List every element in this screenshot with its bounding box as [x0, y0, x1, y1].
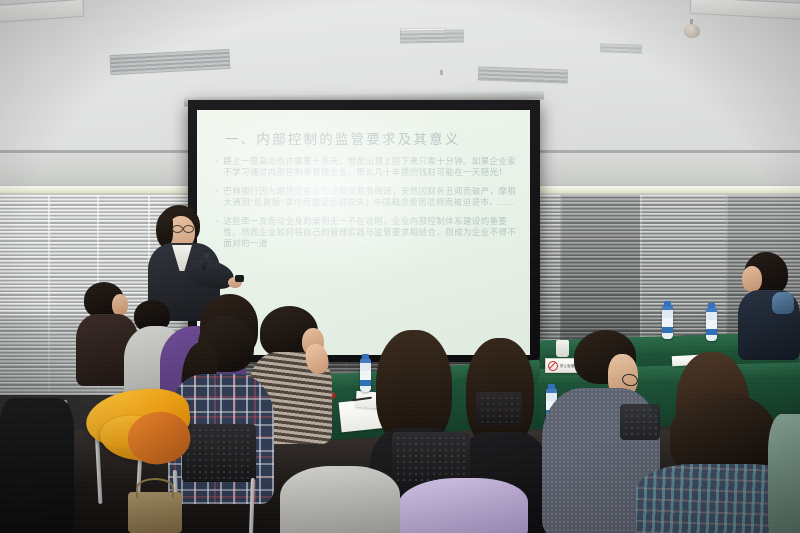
chair-perforation: [395, 435, 467, 481]
ceiling-sprinkler-icon: [684, 24, 700, 38]
paper-cup: [556, 340, 569, 357]
bullet-marker-icon: •: [215, 156, 218, 179]
grey-chair-foreground: [280, 466, 400, 533]
sprinkler-stem: [440, 70, 443, 75]
bullet-marker-icon: •: [215, 186, 218, 209]
slide-body: • 路上一座高山也许需要十多天，但是山顶上挖下来只需十分钟。如果企业家不学习通过…: [215, 156, 520, 257]
handbag: [128, 492, 182, 533]
chair-back: [620, 404, 660, 440]
recessed-light-panel: [0, 0, 85, 23]
recessed-light-panel: [690, 0, 800, 20]
collar: [772, 292, 794, 314]
chair-perforation: [623, 407, 657, 437]
water-bottle: [360, 358, 371, 392]
slide-bullet: • 这些牵一发而动全身的案例无一不在说明，企业内部控制体系建设的重要性。然而企业…: [215, 216, 520, 250]
slide-title: 一、内部控制的监管要求及其意义: [225, 128, 515, 148]
chair-perforation: [479, 395, 519, 423]
torso: [768, 414, 800, 533]
seminar-room-photo: 一、内部控制的监管要求及其意义 • 路上一座高山也许需要十多天，但是山顶上挖下来…: [0, 0, 800, 533]
presenter-hair-side: [156, 213, 173, 247]
lavender-coat-foreground: [398, 478, 528, 533]
glasses-icon: [172, 225, 183, 233]
head: [112, 294, 128, 316]
air-vent: [400, 29, 464, 43]
chair-back: [392, 432, 470, 484]
water-bottle: [662, 305, 673, 339]
torso: [0, 398, 74, 533]
air-vent: [478, 66, 568, 83]
chair-back: [182, 424, 256, 482]
handbag-strap: [136, 478, 174, 498]
no-smoking-icon: [548, 361, 558, 371]
slide-bullet-text: 路上一座高山也许需要十多天，但是山顶上挖下来只需十分钟。如果企业家不学习通过内部…: [223, 156, 520, 179]
bullet-marker-icon: •: [215, 216, 218, 250]
air-vent: [110, 49, 231, 75]
head: [742, 266, 762, 292]
clicker-remote: [235, 275, 244, 282]
chair-back: [476, 392, 522, 426]
slide-bullet-text: 这些牵一发而动全身的案例无一不在说明，企业内部控制体系建设的重要性。然而企业如何…: [223, 216, 520, 250]
air-vent: [600, 43, 642, 53]
water-bottle: [706, 307, 717, 341]
slide-bullet: • 巴林银行因为期货交易员的违规交易而倒闭；安然因财务丑闻而破产，摩根大通因“伦…: [215, 186, 520, 209]
slide-bullet: • 路上一座高山也许需要十多天，但是山顶上挖下来只需十分钟。如果企业家不学习通过…: [215, 156, 520, 179]
slide-bullet-text: 巴林银行因为期货交易员的违规交易而倒闭；安然因财务丑闻而破产，摩根大通因“伦敦鲸…: [223, 186, 520, 209]
glasses-icon: [183, 225, 194, 233]
no-smoking-label: 禁止吸烟: [560, 364, 574, 368]
chair-perforation: [185, 427, 253, 479]
